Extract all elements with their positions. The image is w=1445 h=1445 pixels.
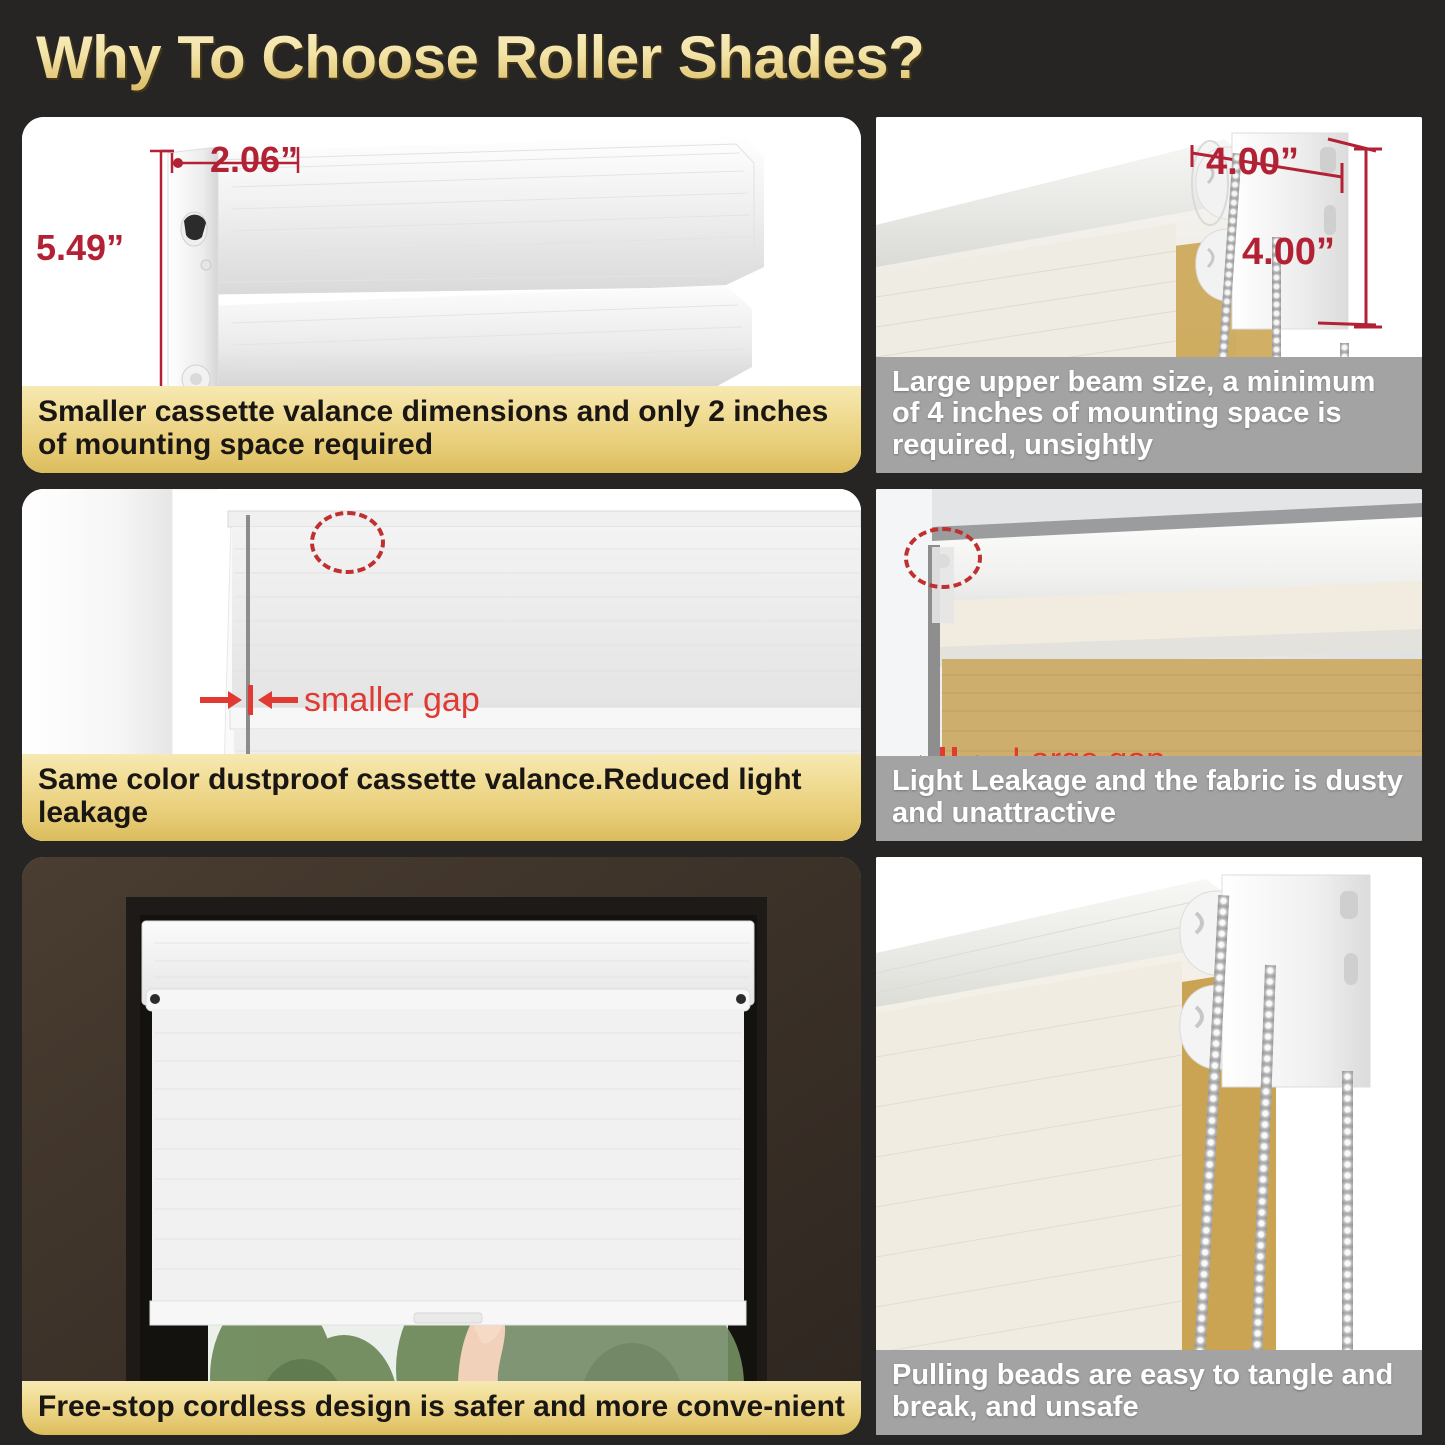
panel-large-upper-beam: 4.00” 4.00” Large upper beam size, a min… xyxy=(876,117,1422,473)
panel-cassette-dimensions: 2.06” 5.49” Smaller cassette valance dim… xyxy=(22,117,861,473)
height-dimension-label: 5.49” xyxy=(36,227,124,269)
caption-pulling-beads: Pulling beads are easy to tangle and bre… xyxy=(876,1350,1422,1435)
caption-large-upper-beam: Large upper beam size, a minimum of 4 in… xyxy=(876,357,1422,473)
page-title: Why To Choose Roller Shades? xyxy=(36,22,1336,94)
infographic-root: Why To Choose Roller Shades? xyxy=(0,0,1445,1445)
caption-cordless-design: Free-stop cordless design is safer and m… xyxy=(22,1381,861,1435)
beam-width-dimension-label: 4.00” xyxy=(1206,141,1299,184)
caption-light-leakage: Light Leakage and the fabric is dusty an… xyxy=(876,756,1422,841)
width-dimension-label: 2.06” xyxy=(210,139,298,181)
panel-dustproof-cassette: smaller gap Same color dustproof cassett… xyxy=(22,489,861,841)
panel-pulling-beads: Pulling beads are easy to tangle and bre… xyxy=(876,857,1422,1435)
cordless-window-photo xyxy=(22,857,861,1435)
beam-height-dimension-label: 4.00” xyxy=(1242,231,1335,274)
dashed-circle-callout xyxy=(904,527,982,589)
dashed-circle-callout xyxy=(310,511,385,574)
panel-light-leakage: Large gap Light Leakage and the fabric i… xyxy=(876,489,1422,841)
caption-dustproof-cassette: Same color dustproof cassette valance.Re… xyxy=(22,754,861,841)
pulling-beads-photo xyxy=(876,857,1422,1435)
panel-cordless-design: Free-stop cordless design is safer and m… xyxy=(22,857,861,1435)
bead-chain-right xyxy=(1342,1071,1353,1365)
caption-cassette-dimensions: Smaller cassette valance dimensions and … xyxy=(22,386,861,473)
smaller-gap-label: smaller gap xyxy=(304,681,480,720)
